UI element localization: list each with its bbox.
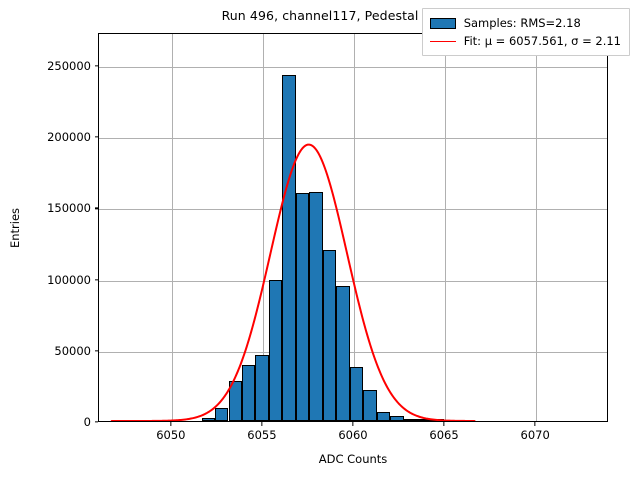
x-tick-label: 6060 (338, 428, 367, 442)
y-tick-mark (95, 421, 99, 422)
x-tick-label: 6050 (156, 428, 185, 442)
legend-item: Samples: RMS=2.18 (430, 14, 621, 32)
legend-swatch-patch (430, 18, 456, 29)
legend-label: Fit: μ = 6057.561, σ = 2.11 (464, 34, 621, 48)
legend: Samples: RMS=2.18Fit: μ = 6057.561, σ = … (422, 8, 630, 56)
x-tick-label: 6065 (429, 428, 458, 442)
x-tick-mark (352, 422, 353, 426)
fit-curve (99, 34, 607, 421)
y-tick-mark (95, 350, 99, 351)
y-tick-mark (95, 208, 99, 209)
legend-item: Fit: μ = 6057.561, σ = 2.11 (430, 32, 621, 50)
figure-canvas: Run 496, channel117, Pedestal Entries AD… (0, 0, 640, 480)
x-tick-label: 6055 (247, 428, 276, 442)
x-tick-mark (534, 422, 535, 426)
y-tick-label: 50000 (54, 344, 91, 358)
y-axis-label-text: Entries (8, 207, 22, 247)
x-axis-label: ADC Counts (98, 452, 608, 466)
x-tick-mark (170, 422, 171, 426)
legend-label: Samples: RMS=2.18 (464, 16, 581, 30)
legend-swatch-line (430, 41, 456, 42)
x-tick-mark (443, 422, 444, 426)
y-tick-mark (95, 136, 99, 137)
y-tick-mark (95, 279, 99, 280)
x-tick-mark (261, 422, 262, 426)
y-axis-label: Entries (6, 33, 24, 422)
x-tick-label: 6070 (521, 428, 550, 442)
y-tick-label: 200000 (47, 130, 91, 144)
y-tick-mark (95, 65, 99, 66)
y-tick-label: 0 (84, 415, 91, 429)
plot-area (98, 33, 608, 422)
y-tick-label: 100000 (47, 273, 91, 287)
y-tick-label: 250000 (47, 59, 91, 73)
y-tick-label: 150000 (47, 201, 91, 215)
